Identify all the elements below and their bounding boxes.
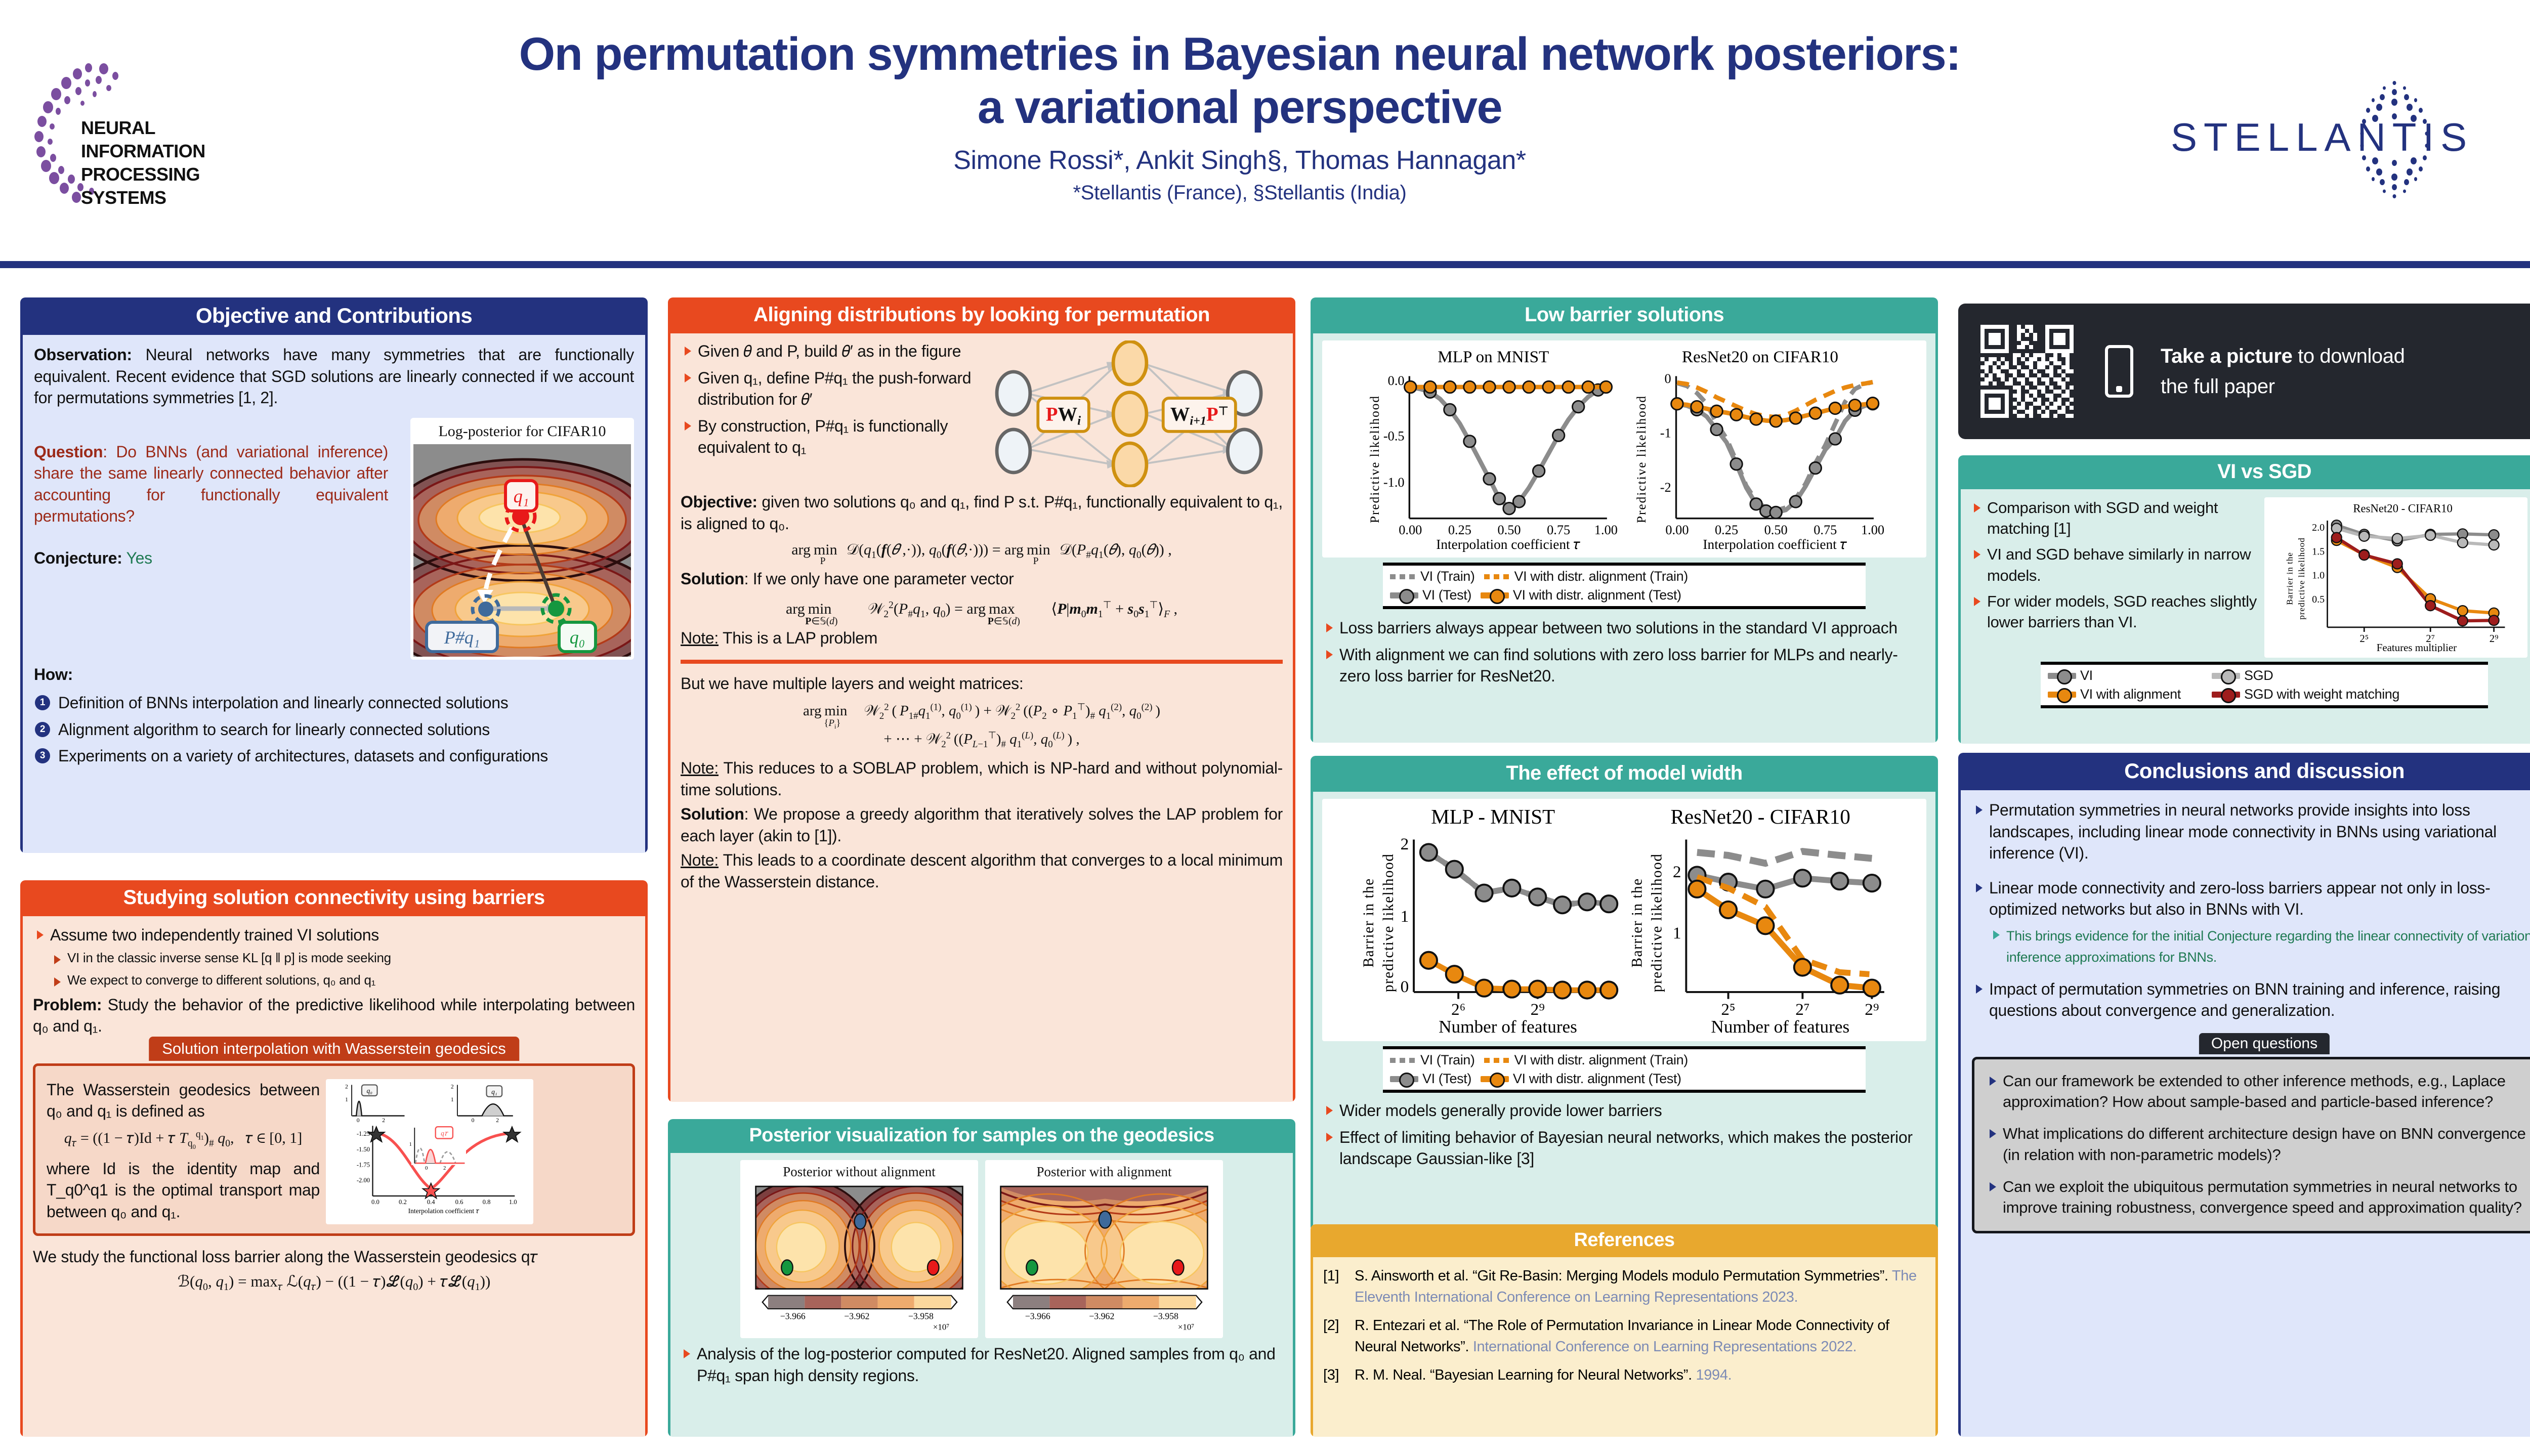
page-title: On permutation symmetries in Bayesian ne…: [354, 28, 2125, 134]
svg-text:0.25: 0.25: [1715, 523, 1738, 537]
vi-vs-sgd-legend-row-2: VI with alignment SGD with weight matchi…: [2048, 687, 2481, 702]
aligning-bullets: Given 𝜃 and P, build 𝜃′ as in the figure…: [681, 340, 979, 487]
svg-text:1: 1: [1401, 907, 1409, 926]
qr-cta-rest: to download: [2292, 345, 2405, 367]
conclusions-sub-bullets: This brings evidence for the initial Con…: [1989, 924, 2530, 967]
barriers-closing-equation: ℬ(q0, q1) = max𝜏 ℒ(q𝜏) − ((1 − 𝜏)ℒ(q0) +…: [33, 1272, 635, 1293]
reference-id-3: [3]: [1323, 1364, 1355, 1386]
svg-text:-2.00: -2.00: [357, 1177, 370, 1184]
svg-text:2: 2: [1401, 835, 1409, 853]
section-low-barrier: Low barrier solutions MLP on MNIST Predi…: [1311, 297, 1938, 743]
low-barrier-bullet-1-label: Loss barriers always appear between two …: [1339, 619, 1897, 637]
stellantis-logo: STELLANTIS: [2171, 101, 2530, 177]
svg-text:0.00: 0.00: [1399, 523, 1422, 537]
poster-root: NEURAL INFORMATION PROCESSING SYSTEMS On…: [0, 0, 2530, 1456]
conclusions-bullet-1: Permutation symmetries in neural network…: [1972, 799, 2530, 864]
svg-text:−3.966: −3.966: [1025, 1311, 1050, 1321]
svg-text:2: 2: [443, 1165, 446, 1171]
aligning-solution-1-text: : If we only have one parameter vector: [744, 570, 1014, 588]
how-list: 1Definition of BNNs interpolation and li…: [34, 692, 634, 767]
vi-vs-sgd-chart: ResNet20 - CIFAR10 Barrier in the predic…: [2264, 497, 2527, 658]
vi-vs-sgd-bullet-3-label: For wider models, SGD reaches slightly l…: [1987, 592, 2257, 631]
affiliation-list: *Stellantis (France), §Stellantis (India…: [354, 182, 2125, 204]
neurips-line-2: PROCESSING SYSTEMS: [81, 163, 245, 209]
aligning-equation-1: arg minP 𝒟(q1(f(𝜃′,·)), q0(f(𝜃,·))) = ar…: [681, 541, 1283, 561]
conclusions-bullets: Permutation symmetries in neural network…: [1972, 799, 2530, 1021]
posterior-left-title: Posterior without alignment: [743, 1164, 975, 1180]
reference-item-1: [1]S. Ainsworth et al. “Git Re-Basin: Me…: [1323, 1265, 1925, 1308]
conjecture-label: Conjecture:: [34, 549, 122, 567]
aligning-solution-1-label: Solution: [681, 570, 744, 588]
how-item-1: 1Definition of BNNs interpolation and li…: [34, 692, 634, 714]
barriers-problem-label: Problem:: [33, 996, 102, 1014]
neurips-logo: NEURAL INFORMATION PROCESSING SYSTEMS: [28, 61, 245, 207]
svg-text:0: 0: [472, 1117, 475, 1124]
vi-vs-sgd-legend-item-3: VI with alignment: [2048, 687, 2189, 702]
svg-text:Interpolation coefficient 𝜏: Interpolation coefficient 𝜏: [1703, 537, 1847, 552]
svg-text:1.00: 1.00: [1594, 523, 1618, 537]
svg-text:0.50: 0.50: [1764, 523, 1788, 537]
low-barrier-bullet-2-label: With alignment we can find solutions wit…: [1339, 646, 1898, 686]
svg-text:0.6: 0.6: [455, 1198, 463, 1206]
conclusions-bullet-2-label: Linear mode connectivity and zero-loss b…: [1989, 879, 2490, 919]
svg-text:2⁵: 2⁵: [1721, 1000, 1735, 1019]
aligning-note-1-label: Note:: [681, 629, 719, 647]
posterior-viz-bullet-1-label: Analysis of the log-posterior computed f…: [697, 1345, 1276, 1385]
model-width-legend-item-2: VI with distr. alignment (Train): [1484, 1052, 1688, 1068]
conclusions-bullet-3-label: Impact of permutation symmetries on BNN …: [1989, 980, 2500, 1020]
vi-vs-sgd-legend-item-4: SGD with weight matching: [2212, 687, 2399, 702]
reference-title-1: S. Ainsworth et al. “Git Re-Basin: Mergi…: [1355, 1268, 1892, 1284]
reference-item-3: [3]R. M. Neal. “Bayesian Learning for Ne…: [1323, 1364, 1925, 1386]
aligning-divider: [681, 660, 1283, 664]
question-paragraph: Question: Do BNNs (and variational infer…: [34, 441, 388, 527]
log-posterior-contour-plot: q₁ P#q₁ q₀: [413, 444, 631, 657]
reference-text-1: S. Ainsworth et al. “Git Re-Basin: Mergi…: [1355, 1265, 1923, 1308]
aligning-equation-2: arg minP∈𝕊(d) 𝒲22(P#q1, q0) = arg maxP∈𝕊…: [681, 599, 1283, 620]
vi-vs-sgd-bullet-2: VI and SGD behave similarly in narrow mo…: [1970, 544, 2258, 585]
solid-orange-marker-icon: [1481, 592, 1509, 598]
svg-text:predictive likelihood: predictive likelihood: [1649, 853, 1665, 993]
vi-vs-sgd-bullet-2-label: VI and SGD behave similarly in narrow mo…: [1987, 545, 2251, 584]
model-width-bullet-2: Effect of limiting behavior of Bayesian …: [1322, 1127, 1926, 1170]
how-item-3-label: Experiments on a variety of architecture…: [58, 747, 548, 765]
aligning-bullet-3-label: By construction, P#q₁ is functionally eq…: [698, 417, 948, 457]
svg-text:−3.962: −3.962: [844, 1311, 869, 1321]
vi-vs-sgd-legend-row-1: VI SGD: [2048, 668, 2481, 683]
svg-text:ResNet20 - CIFAR10: ResNet20 - CIFAR10: [2353, 502, 2452, 515]
observation-paragraph: Observation: Neural networks have many s…: [34, 344, 634, 409]
how-item-1-label: Definition of BNNs interpolation and lin…: [58, 694, 508, 712]
reference-text-3: R. M. Neal. “Bayesian Learning for Neura…: [1355, 1364, 1923, 1386]
wasserstein-subbox-title: Solution interpolation with Wasserstein …: [149, 1037, 519, 1061]
svg-text:2⁶: 2⁶: [1451, 1000, 1465, 1019]
svg-text:2: 2: [345, 1083, 348, 1090]
svg-text:Interpolation coefficient 𝜏: Interpolation coefficient 𝜏: [1436, 537, 1580, 552]
open-questions-title: Open questions: [2199, 1033, 2330, 1054]
svg-text:−3.962: −3.962: [1089, 1311, 1114, 1321]
svg-text:1: 1: [451, 1096, 454, 1103]
svg-text:1.00: 1.00: [1861, 523, 1884, 537]
open-question-1-label: Can our framework be extended to other i…: [2003, 1072, 2506, 1110]
barriers-problem: Problem: Study the behavior of the predi…: [33, 994, 635, 1037]
svg-text:-1.50: -1.50: [357, 1146, 370, 1153]
solid-orange-marker-icon: [1481, 1076, 1509, 1082]
vi-vs-sgd-legend-label-2: SGD: [2244, 668, 2273, 683]
barriers-closing-text: We study the functional loss barrier alo…: [33, 1246, 635, 1268]
open-question-2-label: What implications do different architect…: [2003, 1125, 2526, 1163]
svg-text:2⁹: 2⁹: [2490, 632, 2499, 645]
reference-title-3: R. M. Neal. “Bayesian Learning for Neura…: [1355, 1367, 1696, 1383]
svg-text:2.0: 2.0: [2312, 522, 2325, 533]
low-barrier-legend-item-4: VI with distr. alignment (Test): [1481, 587, 1681, 603]
phone-icon: [2105, 345, 2133, 398]
section-conclusions-heading: Conclusions and discussion: [1958, 753, 2530, 790]
svg-text:1: 1: [1673, 924, 1681, 943]
title-line-2: a variational perspective: [354, 81, 2125, 134]
svg-text:-2: -2: [1660, 480, 1671, 495]
dashed-gray-line-icon: [1390, 1058, 1416, 1063]
posterior-viz-bullets: Analysis of the log-posterior computed f…: [680, 1343, 1284, 1386]
svg-text:Number of features: Number of features: [1439, 1017, 1577, 1037]
svg-text:2: 2: [1673, 863, 1681, 881]
header-divider: [0, 261, 2530, 268]
aligning-equation-3-line1: arg min{Pi}𝒲22 ( P1#q1(1), q0(1) ) + 𝒲22…: [681, 702, 1283, 723]
svg-text:Features multiplier: Features multiplier: [2377, 641, 2457, 652]
svg-text:×10⁷: ×10⁷: [1178, 1322, 1194, 1332]
svg-text:Interpolation coefficient 𝜏: Interpolation coefficient 𝜏: [408, 1207, 480, 1215]
svg-text:1.0: 1.0: [2312, 570, 2325, 581]
reference-id-2: [2]: [1323, 1315, 1355, 1336]
model-width-legend-item-3: VI (Test): [1390, 1071, 1471, 1087]
vi-alignment-marker-icon: [2048, 692, 2076, 698]
svg-text:ResNet20 on CIFAR10: ResNet20 on CIFAR10: [1682, 348, 1838, 366]
open-question-3-label: Can we exploit the ubiquitous permutatio…: [2003, 1178, 2522, 1216]
svg-text:-1.25: -1.25: [357, 1130, 370, 1137]
aligning-note-2-text: This reduces to a SOBLAP problem, which …: [681, 759, 1283, 799]
svg-text:1: 1: [345, 1096, 348, 1103]
svg-text:0.5: 0.5: [2312, 594, 2325, 605]
model-width-legend-label-2: VI with distr. alignment (Train): [1514, 1052, 1688, 1068]
wasserstein-equation: q𝜏 = ((1 − 𝜏)Id + 𝜏 Tq0q1)# q0, 𝜏 ∈ [0, …: [47, 1129, 320, 1151]
svg-text:q₀: q₀: [366, 1087, 372, 1094]
svg-text:Predictive likelihood: Predictive likelihood: [1368, 395, 1382, 523]
svg-text:1: 1: [409, 1141, 412, 1147]
sgd-weight-matching-marker-icon: [2212, 692, 2240, 698]
vi-vs-sgd-bullet-3: For wider models, SGD reaches slightly l…: [1970, 591, 2258, 632]
svg-text:−3.958: −3.958: [908, 1311, 934, 1321]
svg-text:×10⁷: ×10⁷: [933, 1322, 949, 1332]
how-item-3: 3Experiments on a variety of architectur…: [34, 745, 634, 767]
low-barrier-legend-item-2: VI with distr. alignment (Train): [1484, 569, 1688, 584]
svg-text:0.0: 0.0: [1388, 373, 1405, 388]
reference-text-2: R. Entezari et al. “The Role of Permutat…: [1355, 1315, 1923, 1357]
low-barrier-legend-label-3: VI (Test): [1422, 587, 1471, 603]
aligning-note-3-label: Note:: [681, 851, 719, 869]
svg-text:Predictive likelihood: Predictive likelihood: [1634, 395, 1649, 523]
low-barrier-legend-row-2: VI (Test) VI with distr. alignment (Test…: [1390, 587, 1859, 603]
svg-text:2⁹: 2⁹: [1531, 1000, 1545, 1019]
conjecture-value: Yes: [122, 549, 152, 567]
aligning-solution-1: Solution: If we only have one parameter …: [681, 568, 1283, 590]
section-conclusions: Conclusions and discussion Permutation s…: [1958, 753, 2530, 1437]
log-posterior-figure-title: Log-posterior for CIFAR10: [413, 421, 631, 444]
svg-text:Number of features: Number of features: [1711, 1017, 1849, 1037]
posterior-left-contour: −3.966 −3.962 −3.958 ×10⁷: [743, 1180, 975, 1332]
vi-vs-sgd-legend: VI SGD VI with alignment SGD with weight…: [2041, 662, 2488, 708]
qr-cta-text: Take a picture to download the full pape…: [2161, 341, 2405, 402]
section-references-heading: References: [1311, 1224, 1938, 1257]
dashed-orange-line-icon: [1484, 574, 1510, 579]
svg-text:-1.75: -1.75: [357, 1161, 370, 1168]
model-width-legend-item-1: VI (Train): [1390, 1052, 1475, 1068]
section-model-width: The effect of model width MLP - MNIST Ba…: [1311, 756, 1938, 1231]
section-model-width-heading: The effect of model width: [1311, 756, 1938, 792]
low-barrier-legend-item-3: VI (Test): [1390, 587, 1471, 603]
open-question-3: Can we exploit the ubiquitous permutatio…: [1986, 1176, 2530, 1218]
low-barrier-legend-label-1: VI (Train): [1420, 569, 1475, 584]
svg-text:−3.966: −3.966: [780, 1311, 806, 1321]
how-badge-3: 3: [35, 748, 50, 763]
svg-text:2⁷: 2⁷: [1795, 1000, 1809, 1019]
svg-text:1.0: 1.0: [509, 1198, 517, 1206]
aligning-bullet-2: Given q₁, define P#q₁ the push-forward d…: [681, 367, 979, 410]
svg-text:2: 2: [496, 1117, 499, 1124]
low-barrier-legend-row-1: VI (Train) VI with distr. alignment (Tra…: [1390, 569, 1859, 584]
wasserstein-inset-chart: 2 1 0 2 q₀: [326, 1079, 533, 1224]
how-item-2-label: Alignment algorithm to search for linear…: [58, 720, 490, 739]
aligning-objective: Objective: given two solutions q₀ and q₁…: [681, 491, 1283, 534]
svg-text:MLP on MNIST: MLP on MNIST: [1438, 348, 1549, 366]
svg-text:2: 2: [451, 1083, 454, 1090]
model-width-legend-label-1: VI (Train): [1420, 1052, 1475, 1068]
wasserstein-inset-svg: 2 1 0 2 q₀: [328, 1082, 531, 1219]
qr-download-panel[interactable]: Take a picture to download the full pape…: [1958, 304, 2530, 439]
conclusions-bullet-3: Impact of permutation symmetries on BNN …: [1972, 978, 2530, 1021]
section-aligning: Aligning distributions by looking for pe…: [668, 297, 1295, 1102]
how-item-2: 2Alignment algorithm to search for linea…: [34, 719, 634, 741]
model-width-bullets: Wider models generally provide lower bar…: [1322, 1100, 1926, 1170]
aligning-bullet-3: By construction, P#q₁ is functionally eq…: [681, 415, 979, 458]
model-width-charts: MLP - MNIST Barrier in the predictive li…: [1322, 799, 1926, 1041]
svg-text:0.25: 0.25: [1448, 523, 1471, 537]
svg-text:1.5: 1.5: [2312, 546, 2325, 557]
vi-vs-sgd-legend-label-4: SGD with weight matching: [2244, 687, 2399, 702]
open-questions-list: Can our framework be extended to other i…: [1986, 1070, 2530, 1218]
section-posterior-viz-heading: Posterior visualization for samples on t…: [668, 1119, 1295, 1153]
neurips-line-1: NEURAL INFORMATION: [81, 116, 245, 163]
aligning-solution-2-label: Solution: [681, 805, 744, 823]
open-questions-box: Open questions Can our framework be exte…: [1972, 1057, 2530, 1233]
open-question-1: Can our framework be extended to other i…: [1986, 1070, 2530, 1112]
svg-text:P#q₁: P#q₁: [444, 627, 480, 648]
svg-text:q₀: q₀: [570, 627, 585, 648]
reference-id-1: [1]: [1323, 1265, 1355, 1287]
svg-text:-1: -1: [1660, 426, 1671, 441]
vi-vs-sgd-chart-svg: ResNet20 - CIFAR10 Barrier in the predic…: [2267, 500, 2524, 652]
aligning-note-2-label: Note:: [681, 759, 719, 777]
section-low-barrier-heading: Low barrier solutions: [1311, 297, 1938, 333]
model-width-legend-label-3: VI (Test): [1422, 1071, 1471, 1087]
vi-vs-sgd-legend-item-1: VI: [2048, 668, 2189, 683]
aligning-solution-2: Solution: We propose a greedy algorithm …: [681, 803, 1283, 846]
model-width-bullet-1-label: Wider models generally provide lower bar…: [1339, 1101, 1662, 1120]
aligning-note-3: Note: This leads to a coordinate descent…: [681, 849, 1283, 892]
posterior-without-alignment-figure: Posterior without alignment: [740, 1160, 978, 1338]
aligning-multi-text: But we have multiple layers and weight m…: [681, 673, 1283, 695]
barriers-bullet-1-label: Assume two independently trained VI solu…: [50, 926, 379, 944]
aligning-bullet-2-label: Given q₁, define P#q₁ the push-forward d…: [698, 369, 971, 409]
qr-cta-line-1: Take a picture to download: [2161, 341, 2405, 371]
how-badge-2: 2: [35, 722, 50, 737]
svg-text:predictive likelihood: predictive likelihood: [1380, 853, 1397, 993]
svg-text:0.8: 0.8: [483, 1198, 491, 1206]
model-width-legend-label-4: VI with distr. alignment (Test): [1513, 1071, 1681, 1087]
svg-text:Barrier in the: Barrier in the: [1629, 878, 1645, 967]
model-width-chart-svg: MLP - MNIST Barrier in the predictive li…: [1326, 804, 1922, 1037]
low-barrier-legend-label-2: VI with distr. alignment (Train): [1514, 569, 1688, 584]
svg-text:2: 2: [382, 1117, 385, 1124]
barriers-bullets: Assume two independently trained VI solu…: [33, 924, 635, 989]
title-line-1: On permutation symmetries in Bayesian ne…: [354, 28, 2125, 81]
wasserstein-subbox: Solution interpolation with Wasserstein …: [33, 1063, 635, 1236]
qr-cta-line-2: the full paper: [2161, 371, 2405, 402]
question-label: Question: [34, 443, 103, 461]
log-posterior-figure: Log-posterior for CIFAR10: [410, 418, 634, 660]
aligning-objective-label: Objective:: [681, 493, 757, 511]
svg-text:-0.5: -0.5: [1383, 429, 1405, 443]
model-width-legend-row-1: VI (Train) VI with distr. alignment (Tra…: [1390, 1052, 1859, 1068]
section-barriers-heading: Studying solution connectivity using bar…: [20, 880, 648, 916]
low-barrier-legend: VI (Train) VI with distr. alignment (Tra…: [1383, 563, 1866, 609]
conjecture-paragraph: Conjecture: Yes: [34, 547, 388, 569]
reference-venue-2: International Conference on Learning Rep…: [1473, 1339, 1857, 1355]
low-barrier-bullets: Loss barriers always appear between two …: [1322, 617, 1926, 687]
section-references: References [1]S. Ainsworth et al. “Git R…: [1311, 1224, 1938, 1437]
barriers-sub-bullet-2-label: We expect to converge to different solut…: [67, 972, 375, 988]
svg-text:q𝜏: q𝜏: [441, 1129, 449, 1137]
svg-text:0.75: 0.75: [1814, 523, 1837, 537]
barriers-problem-text: Study the behavior of the predictive lik…: [33, 996, 635, 1036]
model-width-legend: VI (Train) VI with distr. alignment (Tra…: [1383, 1046, 1866, 1093]
vi-vs-sgd-bullet-1-label: Comparison with SGD and weight matching …: [1987, 499, 2218, 537]
aligning-note-1: Note: This is a LAP problem: [681, 627, 1283, 649]
dashed-orange-line-icon: [1484, 1058, 1510, 1063]
svg-text:q₁: q₁: [514, 486, 529, 506]
wasserstein-text-1: The Wasserstein geodesics between q₀ and…: [47, 1079, 320, 1122]
conclusions-sub-bullet-1: This brings evidence for the initial Con…: [1989, 924, 2530, 967]
svg-text:0.00: 0.00: [1665, 523, 1689, 537]
vi-vs-sgd-bullets: Comparison with SGD and weight matching …: [1970, 497, 2258, 658]
reference-item-2: [2]R. Entezari et al. “The Role of Permu…: [1323, 1315, 1925, 1357]
svg-text:0: 0: [357, 1117, 360, 1124]
svg-text:0.0: 0.0: [371, 1198, 379, 1206]
aligning-bullet-1-label: Given 𝜃 and P, build 𝜃′ as in the figure: [698, 342, 961, 360]
how-badge-1: 1: [35, 695, 50, 710]
svg-text:Barrier in the: Barrier in the: [2285, 552, 2294, 605]
open-question-2: What implications do different architect…: [1986, 1123, 2530, 1165]
barriers-sub-bullet-1-label: VI in the classic inverse sense KL [q ‖ …: [67, 950, 391, 965]
svg-text:0: 0: [1665, 371, 1671, 386]
dashed-gray-line-icon: [1390, 574, 1416, 579]
section-vi-vs-sgd-heading: VI vs SGD: [1958, 455, 2530, 489]
barriers-sub-bullet-1: VI in the classic inverse sense KL [q ‖ …: [50, 949, 635, 967]
vi-vs-sgd-legend-item-2: SGD: [2212, 668, 2273, 683]
conclusions-bullet-2: Linear mode connectivity and zero-loss b…: [1972, 877, 2530, 967]
low-barrier-legend-label-4: VI with distr. alignment (Test): [1513, 587, 1681, 603]
vi-vs-sgd-bullet-1: Comparison with SGD and weight matching …: [1970, 497, 2258, 539]
svg-text:PWi: PWi: [1046, 404, 1081, 428]
posterior-viz-bullet-1: Analysis of the log-posterior computed f…: [680, 1343, 1284, 1386]
solid-gray-marker-icon: [1390, 1076, 1418, 1082]
svg-text:q₁: q₁: [491, 1088, 497, 1095]
posterior-right-title: Posterior with alignment: [988, 1164, 1220, 1180]
svg-text:0.50: 0.50: [1497, 523, 1521, 537]
how-label: How:: [34, 664, 634, 686]
low-barrier-charts: MLP on MNIST Predictive likelihood 0.0 -…: [1322, 340, 1926, 558]
barriers-bullet-1: Assume two independently trained VI solu…: [33, 924, 635, 989]
aligning-note-2: Note: This reduces to a SOBLAP problem, …: [681, 757, 1283, 800]
model-width-bullet-1: Wider models generally provide lower bar…: [1322, 1100, 1926, 1122]
stellantis-burst-icon: [2339, 80, 2450, 199]
posterior-right-contour: −3.966 −3.962 −3.958 ×10⁷: [988, 1180, 1220, 1332]
vi-vs-sgd-legend-label-1: VI: [2080, 668, 2093, 683]
qr-code-icon[interactable]: [1976, 321, 2078, 422]
svg-text:2⁵: 2⁵: [2359, 632, 2369, 645]
barriers-sub-bullet-2: We expect to converge to different solut…: [50, 971, 635, 989]
svg-text:0: 0: [425, 1165, 428, 1171]
section-objective-contributions: Objective and Contributions Observation:…: [20, 297, 648, 853]
observation-label: Observation:: [34, 346, 132, 364]
svg-text:predictive likelihood: predictive likelihood: [2297, 537, 2306, 619]
svg-text:−3.958: −3.958: [1153, 1311, 1178, 1321]
poster-header: NEURAL INFORMATION PROCESSING SYSTEMS On…: [0, 0, 2530, 273]
svg-text:0.2: 0.2: [399, 1198, 407, 1206]
aligning-objective-text: given two solutions q₀ and q₁, find P s.…: [681, 493, 1283, 533]
low-barrier-bullet-2: With alignment we can find solutions wit…: [1322, 644, 1926, 687]
svg-text:0.75: 0.75: [1547, 523, 1570, 537]
vi-vs-sgd-legend-label-3: VI with alignment: [2080, 687, 2181, 702]
conclusions-bullet-1-label: Permutation symmetries in neural network…: [1989, 801, 2497, 862]
vi-marker-icon: [2048, 673, 2076, 679]
title-block: On permutation symmetries in Bayesian ne…: [354, 28, 2125, 204]
aligning-note-1-text: This is a LAP problem: [719, 629, 877, 647]
aligning-bullet-1: Given 𝜃 and P, build 𝜃′ as in the figure: [681, 340, 979, 362]
model-width-legend-item-4: VI with distr. alignment (Test): [1481, 1071, 1681, 1087]
section-barriers: Studying solution connectivity using bar…: [20, 880, 648, 1437]
aligning-solution-2-text: : We propose a greedy algorithm that ite…: [681, 805, 1283, 845]
svg-text:0.4: 0.4: [427, 1198, 435, 1206]
aligning-note-3-text: This leads to a coordinate descent algor…: [681, 851, 1283, 891]
svg-text:Barrier in the: Barrier in the: [1361, 878, 1377, 967]
model-width-bullet-2-label: Effect of limiting behavior of Bayesian …: [1339, 1128, 1913, 1168]
sgd-marker-icon: [2212, 673, 2240, 679]
author-list: Simone Rossi*, Ankit Singh§, Thomas Hann…: [354, 145, 2125, 176]
svg-text:ResNet20 - CIFAR10: ResNet20 - CIFAR10: [1670, 805, 1850, 828]
wasserstein-text-2: where Id is the identity map and T_q0^q1…: [47, 1158, 320, 1223]
low-barrier-bullet-1: Loss barriers always appear between two …: [1322, 617, 1926, 639]
aligning-equation-3-line2: + ⋯ + 𝒲22 ((PL−1⊤)# q1(L), q0(L) ) ,: [681, 730, 1283, 750]
posterior-with-alignment-figure: Posterior with alignment: [985, 1160, 1223, 1338]
section-aligning-heading: Aligning distributions by looking for pe…: [668, 297, 1295, 333]
svg-text:2⁹: 2⁹: [1865, 1000, 1879, 1019]
model-width-legend-row-2: VI (Test) VI with distr. alignment (Test…: [1390, 1071, 1859, 1087]
low-barrier-chart-svg: MLP on MNIST Predictive likelihood 0.0 -…: [1326, 346, 1922, 553]
reference-venue-3: 1994.: [1696, 1367, 1732, 1383]
conclusions-sub-bullet-1-label: This brings evidence for the initial Con…: [2006, 928, 2530, 965]
qr-cta-bold: Take a picture: [2161, 345, 2292, 367]
barriers-sub-bullets: VI in the classic inverse sense KL [q ‖ …: [50, 949, 635, 989]
